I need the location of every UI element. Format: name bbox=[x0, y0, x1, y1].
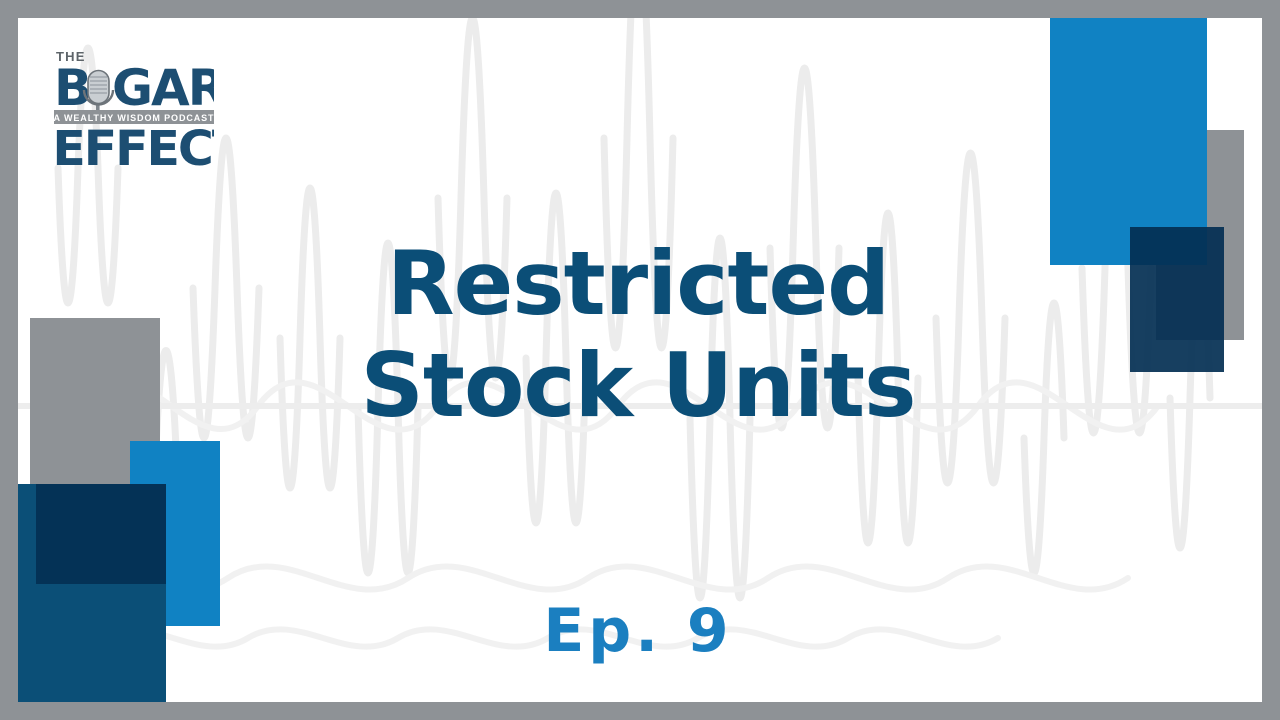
cover-canvas: THE B GART A WEALTHY bbox=[18, 18, 1262, 702]
decorative-block-navy-right bbox=[1130, 227, 1224, 372]
bogart-effect-logo: THE B GART A WEALTHY bbox=[34, 30, 214, 170]
episode-title: Restricted Stock Units bbox=[218, 233, 1058, 437]
decorative-block-navy-left bbox=[36, 484, 166, 584]
episode-number-label: Ep. 9 bbox=[218, 596, 1058, 666]
logo-brand-b: B bbox=[54, 59, 92, 117]
episode-title-line-2: Stock Units bbox=[218, 335, 1058, 437]
episode-title-line-1: Restricted bbox=[218, 233, 1058, 335]
podcast-episode-cover: THE B GART A WEALTHY bbox=[0, 0, 1280, 720]
logo-brand-effect: EFFECT bbox=[52, 121, 214, 170]
logo-brand-gart: GART bbox=[112, 59, 214, 117]
